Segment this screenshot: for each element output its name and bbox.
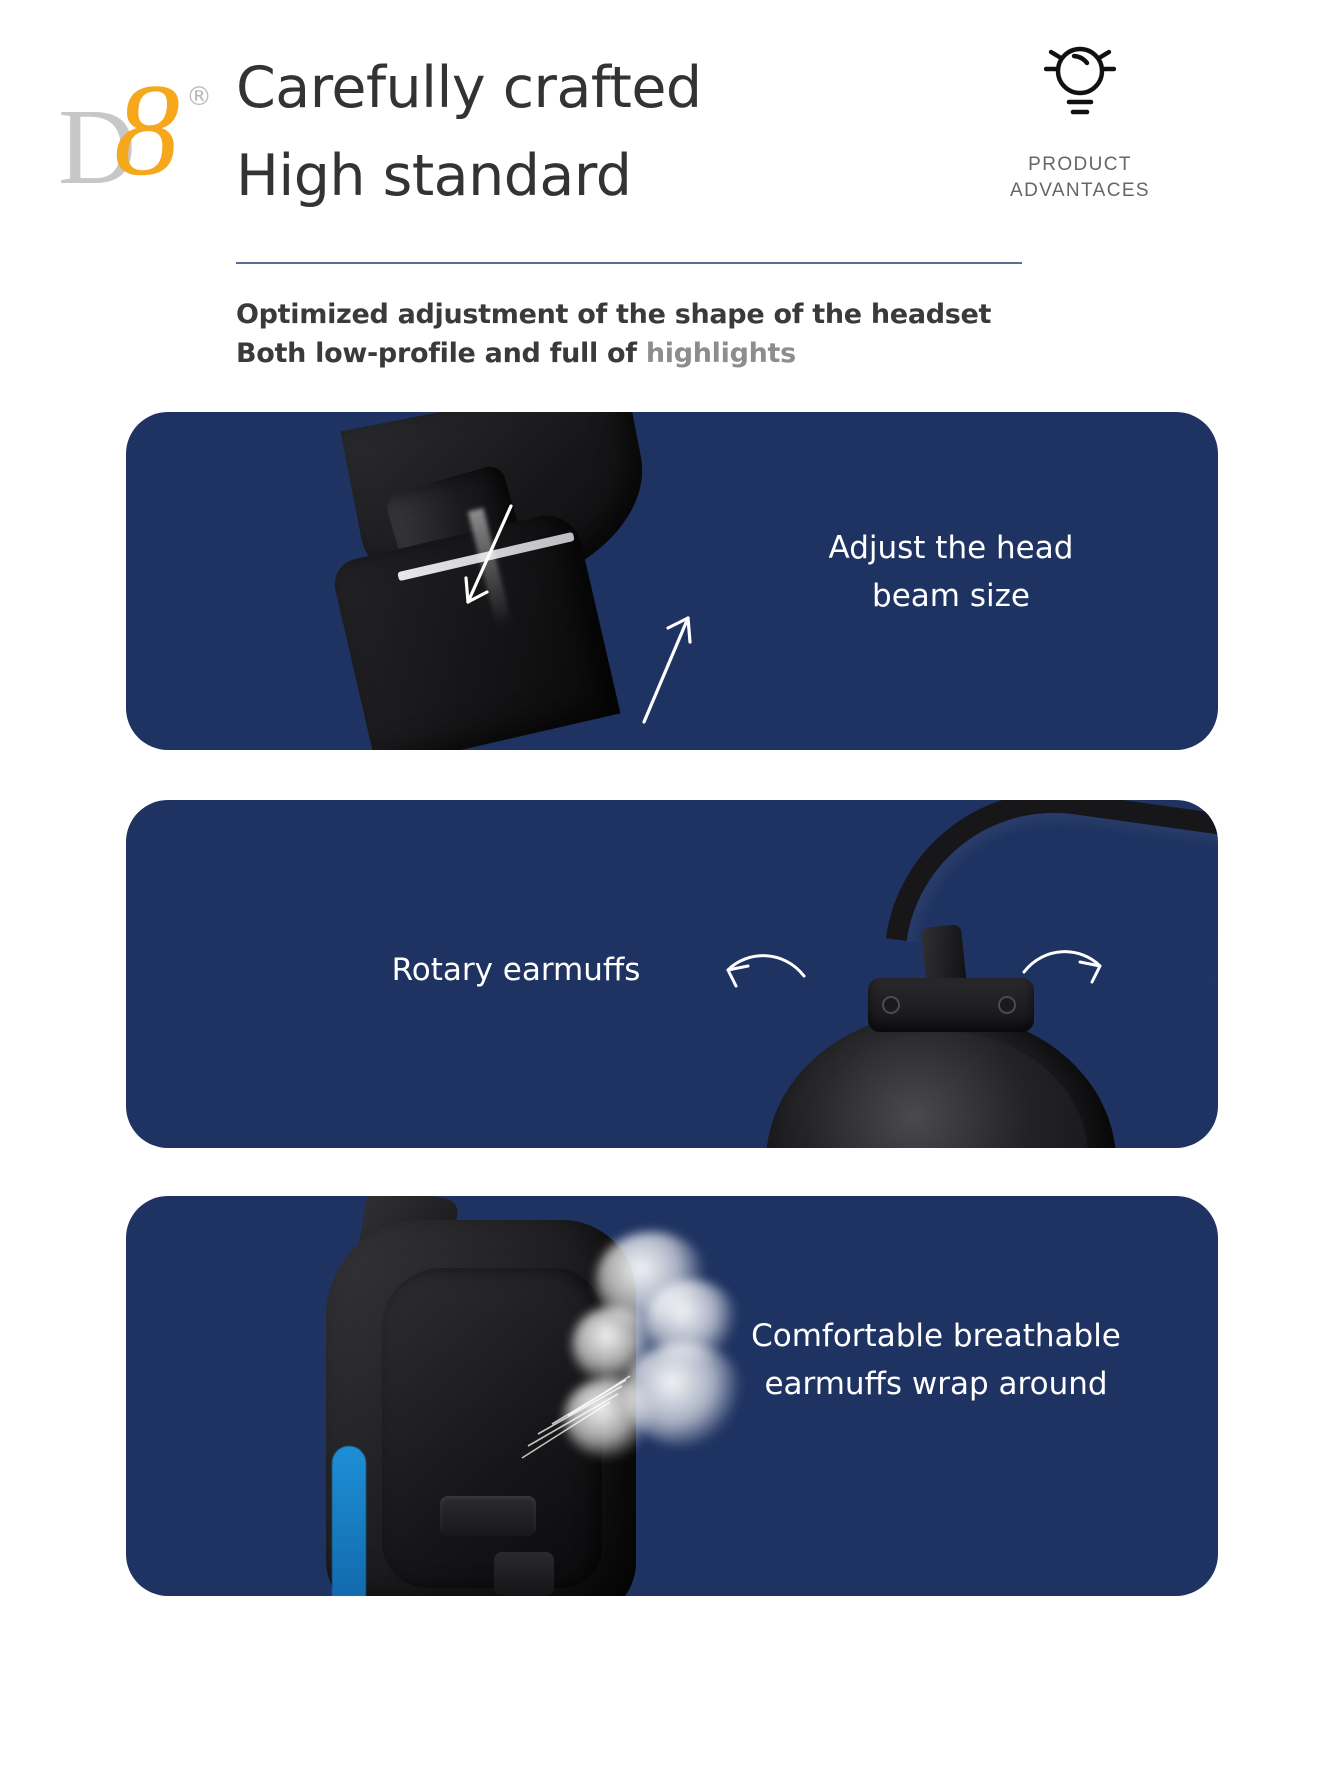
earcup-control-button-secondary	[494, 1552, 554, 1596]
hinge-screw-right	[998, 996, 1016, 1014]
earcup-control-button	[440, 1496, 536, 1536]
caption-line-1: Rotary earmuffs	[326, 946, 706, 994]
blue-accent-strip	[332, 1446, 366, 1596]
product-advantages-page: D 8 ® Carefully crafted High standard PR…	[0, 0, 1340, 1785]
card-caption-adjust-head-beam: Adjust the head beam size	[766, 524, 1136, 620]
badge-caption-line-2: ADVANTACES	[1010, 178, 1150, 204]
card-caption-rotary-earmuffs: Rotary earmuffs	[326, 946, 706, 994]
lightbulb-icon	[1044, 40, 1116, 118]
airflow-streaks-icon	[518, 1372, 648, 1464]
badge-caption: PRODUCT ADVANTACES	[1010, 152, 1150, 204]
product-advantages-badge: PRODUCT ADVANTACES	[880, 40, 1280, 204]
rotate-right-arrow-icon	[1014, 932, 1110, 998]
hinge-screw-left	[882, 996, 900, 1014]
caption-line-1: Adjust the head	[766, 524, 1136, 572]
page-header: D 8 ® Carefully crafted High standard PR…	[0, 0, 1340, 400]
badge-caption-line-1: PRODUCT	[1010, 152, 1150, 178]
subtitle-line-2: Both low-profile and full of highlights	[236, 334, 1136, 373]
subtitle-line-2-main: Both low-profile and full of	[236, 338, 646, 369]
caption-line-2: beam size	[766, 572, 1136, 620]
arrow-down-left-icon	[456, 500, 536, 620]
subtitle-block: Optimized adjustment of the shape of the…	[236, 295, 1136, 373]
subtitle-line-2-highlight: highlights	[646, 338, 796, 369]
feature-card-rotary-earmuffs: Rotary earmuffs	[126, 800, 1218, 1148]
subtitle-line-1: Optimized adjustment of the shape of the…	[236, 295, 1136, 334]
headline-line-2: High standard	[236, 132, 886, 220]
brand-logo: D 8 ®	[58, 42, 228, 182]
caption-line-2: earmuffs wrap around	[706, 1360, 1166, 1408]
feature-card-breathable-earmuffs: Comfortable breathable earmuffs wrap aro…	[126, 1196, 1218, 1596]
rotate-left-arrow-icon	[718, 936, 814, 1002]
caption-line-1: Comfortable breathable	[706, 1312, 1166, 1360]
registered-trademark-icon: ®	[186, 84, 212, 110]
logo-digit-8: 8	[114, 64, 180, 196]
card-caption-breathable-earmuffs: Comfortable breathable earmuffs wrap aro…	[706, 1312, 1166, 1408]
feature-card-adjust-head-beam: Adjust the head beam size	[126, 412, 1218, 750]
page-title: Carefully crafted High standard	[236, 44, 886, 220]
arrow-up-right-icon	[626, 602, 716, 732]
header-divider	[236, 262, 1022, 264]
headline-line-1: Carefully crafted	[236, 44, 886, 132]
